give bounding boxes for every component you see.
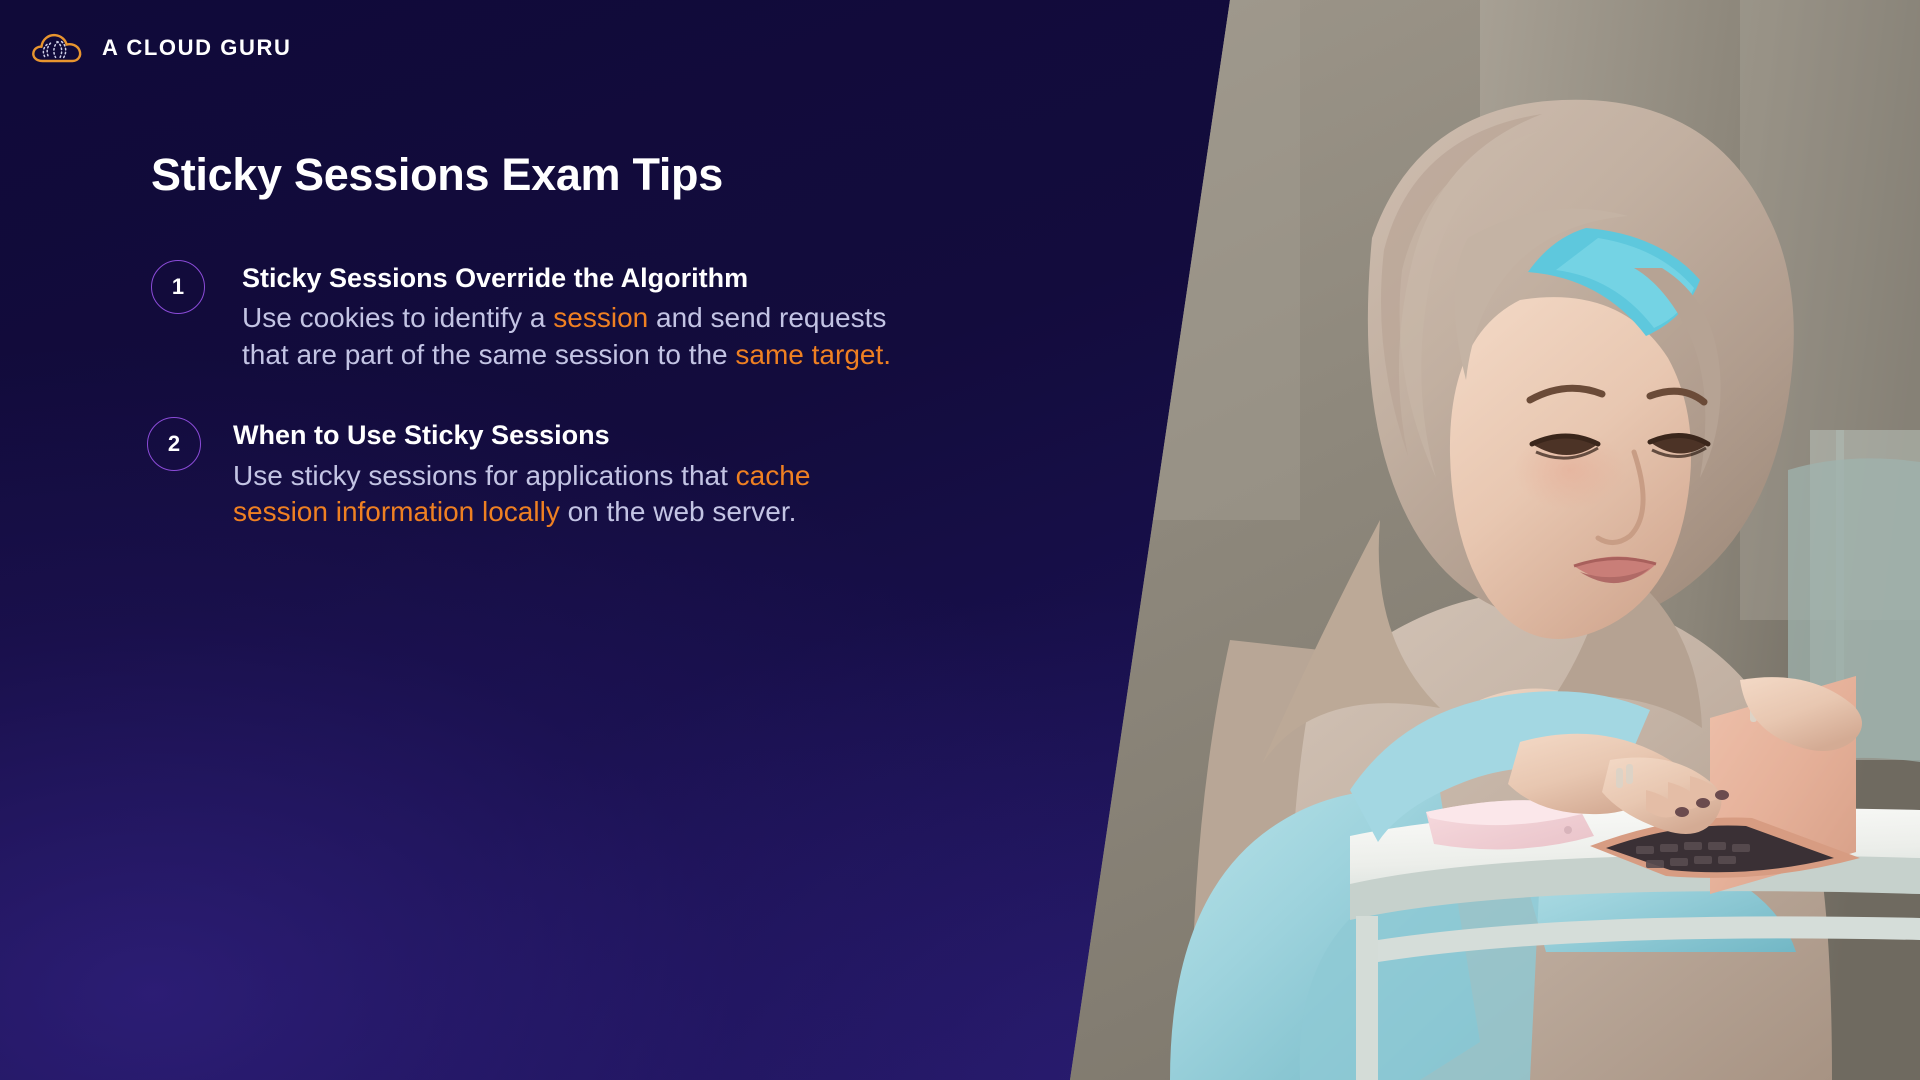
slide-root: A CLOUD GURU Sticky Sessions Exam Tips 1…	[0, 0, 1920, 1080]
tip-text: Use sticky sessions for applications tha…	[233, 458, 883, 531]
tip-text: Use cookies to identify a session and se…	[242, 300, 892, 373]
photo-illustration	[1050, 0, 1920, 1080]
slide-content: Sticky Sessions Exam Tips 1 Sticky Sessi…	[151, 150, 951, 531]
text-run: Use sticky sessions for applications tha…	[233, 460, 736, 491]
highlighted-phrase: same target.	[735, 339, 891, 370]
tip-item-2: 2 When to Use Sticky Sessions Use sticky…	[151, 415, 951, 531]
brand-name: A CLOUD GURU	[102, 37, 292, 59]
tip-number-badge: 2	[147, 417, 201, 471]
tip-body: When to Use Sticky Sessions Use sticky s…	[233, 415, 883, 531]
photo-woman-with-laptop	[1050, 0, 1920, 1080]
highlighted-phrase: session	[553, 302, 648, 333]
tip-heading: Sticky Sessions Override the Algorithm	[242, 262, 892, 294]
tip-body: Sticky Sessions Override the Algorithm U…	[242, 258, 892, 374]
tip-number-badge: 1	[151, 260, 205, 314]
text-run: Use cookies to identify a	[242, 302, 553, 333]
tips-list: 1 Sticky Sessions Override the Algorithm…	[151, 258, 951, 531]
page-title: Sticky Sessions Exam Tips	[151, 150, 951, 200]
brand-logo[interactable]: A CLOUD GURU	[30, 28, 292, 68]
tip-item-1: 1 Sticky Sessions Override the Algorithm…	[151, 258, 951, 374]
cloud-outline-icon	[30, 28, 86, 68]
tip-heading: When to Use Sticky Sessions	[233, 419, 883, 451]
text-run: on the web server.	[560, 496, 797, 527]
